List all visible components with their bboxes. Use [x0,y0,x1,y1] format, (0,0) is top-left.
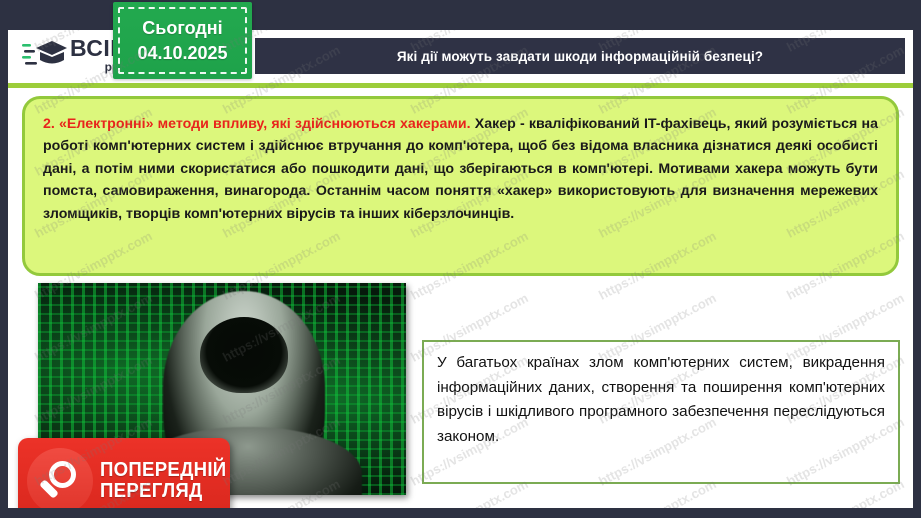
page-title: Які дії можуть завдати шкоди інформаційн… [397,49,763,64]
law-note-text: У багатьох країнах злом комп'ютерних сис… [437,351,885,450]
face-shadow [200,317,288,393]
law-note-box: У багатьох країнах злом комп'ютерних сис… [422,340,900,484]
preview-label-line2: ПЕРЕГЛЯД [100,481,226,502]
graduation-cap-icon [22,38,68,72]
header-divider [8,83,913,88]
slide-canvas: ВСІМ pptx Які дії можуть завдати шкоди і… [8,30,913,508]
preview-badge[interactable]: ПОПЕРЕДНІЙ ПЕРЕГЛЯД [18,438,230,508]
today-date: 04.10.2025 [137,41,227,65]
magnifier-icon [27,448,93,509]
preview-label-line1: ПОПЕРЕДНІЙ [100,460,226,481]
today-date-badge: Сьогодні 04.10.2025 [113,2,252,79]
slide-title-bar: Які дії можуть завдати шкоди інформаційн… [255,38,905,74]
panel-paragraph: 2. «Електронні» методи впливу, які здійс… [43,113,878,225]
main-content-panel: 2. «Електронні» методи впливу, які здійс… [22,96,899,276]
screenshot-root: ВСІМ pptx Які дії можуть завдати шкоди і… [0,0,921,518]
today-label: Сьогодні [142,16,222,40]
magnifier-ring [49,461,76,488]
panel-lead-text: 2. «Електронні» методи впливу, які здійс… [43,116,471,132]
